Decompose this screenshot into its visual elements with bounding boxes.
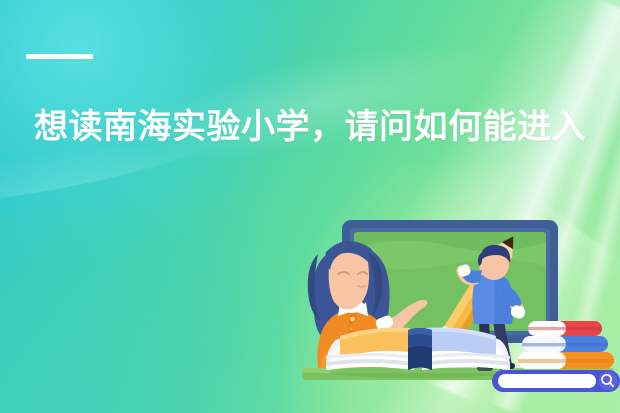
open-book-icon: [326, 328, 510, 378]
search-input[interactable]: [498, 374, 596, 388]
page-title: 想读南海实验小学，请问如何能进入: [0, 104, 620, 150]
promo-banner: 想读南海实验小学，请问如何能进入: [0, 0, 620, 413]
book-stack-icon: [518, 321, 614, 369]
accent-rule: [26, 54, 93, 59]
search-bar[interactable]: [492, 370, 620, 392]
education-classroom-illustration: [296, 218, 620, 413]
